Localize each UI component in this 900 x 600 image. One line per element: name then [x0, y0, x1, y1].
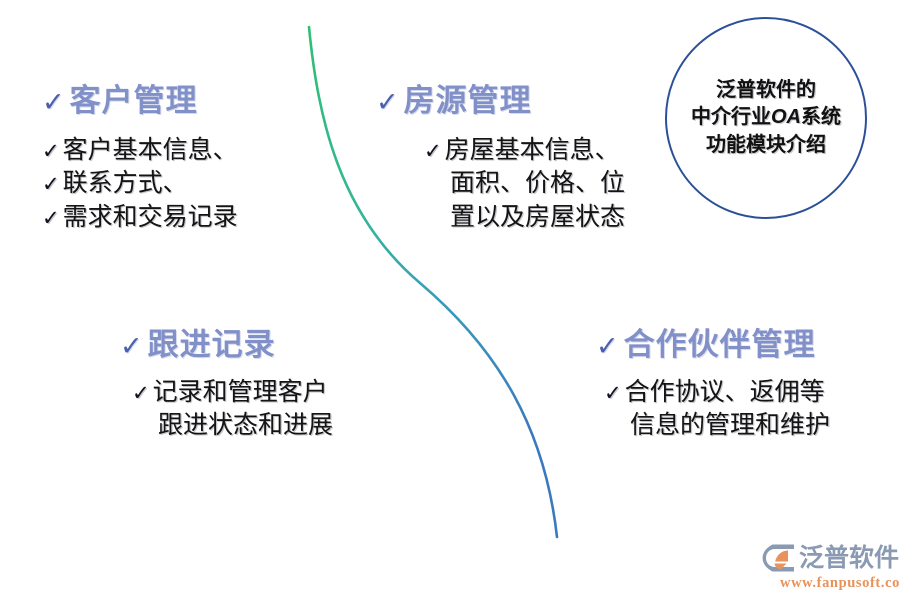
fanpu-logo: 泛普软件 www.fanpusoft.com	[762, 543, 900, 592]
list-item-text: 记录和管理客户	[153, 379, 328, 406]
list-item: ✓合作协议、返佣等	[604, 376, 830, 409]
quadrant-followup-title: ✓跟进记录	[120, 328, 333, 362]
list-item: ✓需求和交易记录	[42, 201, 238, 234]
quadrant-partner-title: ✓合作伙伴管理	[596, 328, 830, 362]
list-item: 跟进状态和进展	[132, 409, 333, 442]
quadrant-house-title-text: 房源管理	[404, 83, 532, 118]
fanpu-logo-mark-icon	[762, 543, 796, 573]
list-item-text: 需求和交易记录	[63, 204, 238, 231]
quadrant-customer-title: ✓客户管理	[42, 84, 238, 118]
check-icon: ✓	[596, 331, 620, 362]
check-icon: ✓	[42, 87, 66, 118]
check-icon: ✓	[42, 206, 60, 230]
slide-canvas: 泛普软件的 中介行业OA系统 功能模块介绍 ✓客户管理 ✓客户基本信息、 ✓联系…	[0, 0, 900, 600]
list-item: ✓记录和管理客户	[132, 376, 333, 409]
quadrant-partner-management: ✓合作伙伴管理 ✓合作协议、返佣等 信息的管理和维护	[596, 328, 830, 443]
list-item: ✓房屋基本信息、	[424, 134, 625, 167]
circle-title-line-2: 中介行业OA系统	[691, 104, 841, 132]
list-item-text: 客户基本信息、	[63, 137, 238, 164]
quadrant-partner-body: ✓合作协议、返佣等 信息的管理和维护	[604, 376, 830, 443]
list-item: 信息的管理和维护	[604, 409, 830, 442]
check-icon: ✓	[424, 139, 442, 163]
circle-title-line-2-suffix: 系统	[801, 106, 841, 128]
list-item: ✓联系方式、	[42, 167, 238, 200]
list-item-text: 信息的管理和维护	[630, 412, 830, 439]
logo-website-url: www.fanpusoft.com	[780, 575, 900, 592]
circle-title-line-2-prefix: 中介行业	[691, 106, 771, 128]
check-icon: ✓	[42, 139, 60, 163]
list-item-text: 房屋基本信息、	[445, 137, 620, 164]
quadrant-customer-management: ✓客户管理 ✓客户基本信息、 ✓联系方式、 ✓需求和交易记录	[42, 84, 238, 234]
list-item-text: 面积、价格、位	[450, 170, 625, 197]
list-item: ✓客户基本信息、	[42, 134, 238, 167]
circle-title-oa-label: OA	[771, 106, 801, 128]
check-icon: ✓	[132, 381, 150, 405]
quadrant-house-body: ✓房屋基本信息、 面积、价格、位 置以及房屋状态	[424, 134, 625, 234]
check-icon: ✓	[120, 331, 144, 362]
title-circle-badge: 泛普软件的 中介行业OA系统 功能模块介绍	[665, 17, 867, 219]
quadrant-partner-title-text: 合作伙伴管理	[624, 327, 816, 362]
quadrant-customer-body: ✓客户基本信息、 ✓联系方式、 ✓需求和交易记录	[42, 134, 238, 234]
list-item-text: 合作协议、返佣等	[625, 379, 825, 406]
logo-brand-name: 泛普软件	[799, 546, 899, 571]
list-item-text: 跟进状态和进展	[158, 412, 333, 439]
list-item-text: 联系方式、	[63, 170, 188, 197]
quadrant-follow-up-record: ✓跟进记录 ✓记录和管理客户 跟进状态和进展	[120, 328, 333, 443]
check-icon: ✓	[376, 87, 400, 118]
check-icon: ✓	[42, 172, 60, 196]
quadrant-followup-title-text: 跟进记录	[148, 327, 276, 362]
quadrant-followup-body: ✓记录和管理客户 跟进状态和进展	[132, 376, 333, 443]
quadrant-house-title: ✓房源管理	[376, 84, 625, 118]
list-item-text: 置以及房屋状态	[450, 204, 625, 231]
circle-title-line-1: 泛普软件的	[716, 77, 816, 105]
list-item: 置以及房屋状态	[424, 201, 625, 234]
check-icon: ✓	[604, 381, 622, 405]
quadrant-customer-title-text: 客户管理	[70, 83, 198, 118]
quadrant-house-source-management: ✓房源管理 ✓房屋基本信息、 面积、价格、位 置以及房屋状态	[376, 84, 625, 234]
circle-title-line-3: 功能模块介绍	[706, 132, 826, 160]
logo-row: 泛普软件	[762, 543, 899, 573]
list-item: 面积、价格、位	[424, 167, 625, 200]
